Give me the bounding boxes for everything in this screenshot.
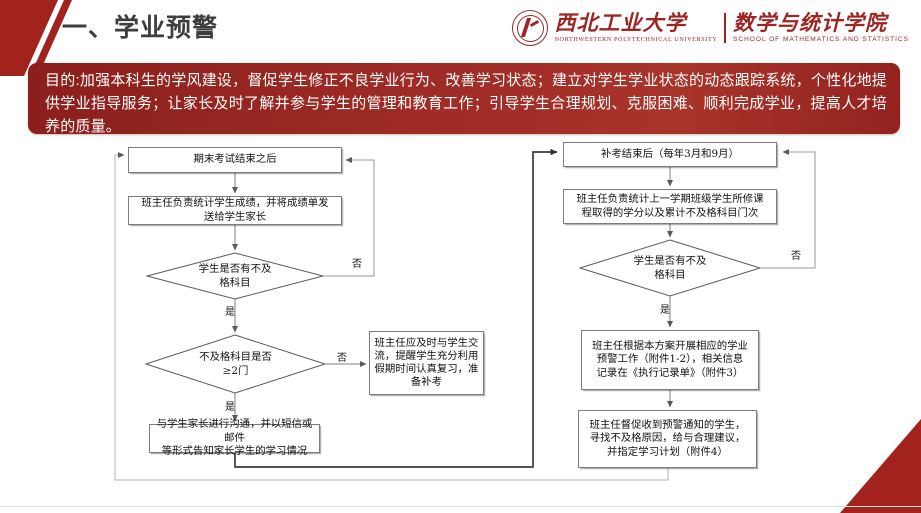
- bottom-divider: [0, 506, 921, 507]
- flow-box-left-step1: 班主任负责统计学生成绩，并将成绩单发 送给学生家长: [128, 196, 342, 225]
- flowchart-connectors-layer: [0, 0, 921, 513]
- flow-box-right-step3: 班主任督促收到预警通知的学生， 寻找不及格原因，给与合理建议， 并指定学习计划（…: [578, 410, 757, 468]
- flow-label-left-d2-no: 否: [337, 349, 347, 364]
- flow-box-left-no-action: 班主任应及时与学生交 流，提醒学生充分利用 假期时间认真复习，准 备补考: [369, 331, 484, 395]
- flow-label-left-d2-yes: 是: [225, 398, 235, 413]
- flow-box-left-yes-action: 与学生家长进行沟通，并以短信或邮件 等形式告知家长学生的学习情况: [149, 424, 320, 453]
- flow-label-left-d1-no: 否: [352, 255, 362, 270]
- bottom-right-red-corner-icon: [816, 413, 921, 513]
- flow-label-right-d1-no: 否: [791, 247, 801, 262]
- flow-decision-left-1-label: 学生是否有不及 格科目: [147, 263, 323, 290]
- flow-label-right-d1-yes: 是: [660, 301, 670, 316]
- flow-box-right-step2: 班主任根据本方案开展相应的学业 预警工作（附件1-2），相关信息 记录在《执行记…: [581, 330, 759, 390]
- flow-box-left-start: 期末考试结束之后: [128, 147, 342, 173]
- flow-box-right-step1: 班主任负责统计上一学期班级学生所修课 程取得的学分以及累计不及格科目门次: [563, 189, 777, 224]
- flow-decision-right-1-label: 学生是否有不及 格科目: [580, 255, 760, 282]
- flow-decision-left-2-label: 不及格科目是否 ≥2门: [146, 351, 325, 378]
- flow-box-right-start: 补考结束后（每年3月和9月）: [563, 142, 777, 167]
- flow-label-left-d1-yes: 是: [225, 303, 235, 318]
- slide-canvas: 一、学业预警 西北工业大学 NORTHWESTERN POLYTECHNICAL…: [0, 0, 921, 513]
- academic-warning-flowchart: 期末考试结束之后 班主任负责统计学生成绩，并将成绩单发 送给学生家长 学生是否有…: [0, 0, 921, 513]
